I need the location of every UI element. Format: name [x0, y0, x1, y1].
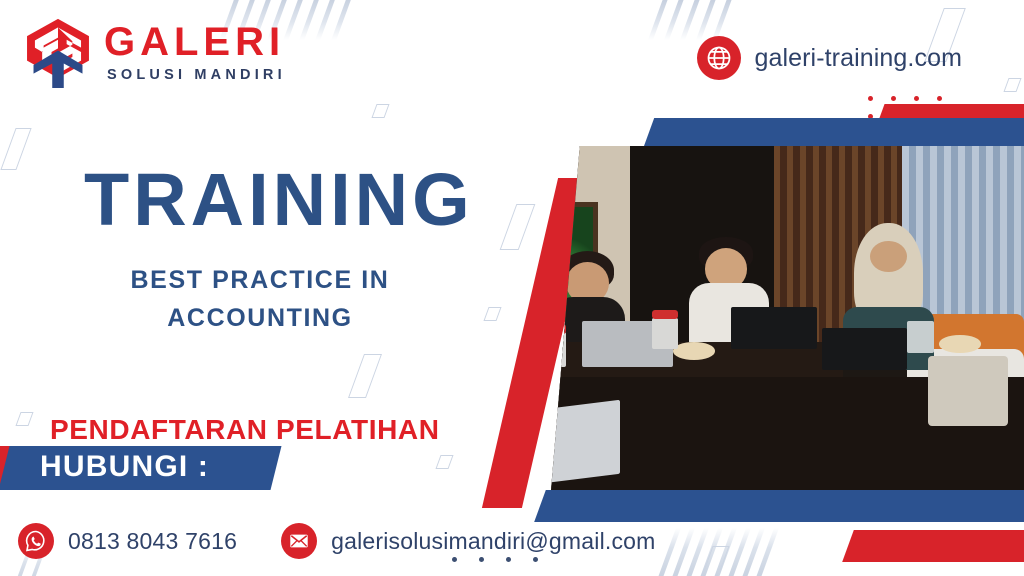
- decorative-stripes-bottom-center: [672, 528, 796, 576]
- decorative-shape: [348, 354, 382, 398]
- page-title: TRAINING: [84, 163, 474, 237]
- decorative-shape: [500, 204, 536, 250]
- decorative-stripes-top-right: [660, 0, 756, 40]
- decorative-dots-under-email: [452, 557, 538, 562]
- decorative-shape: [483, 307, 501, 321]
- email-address[interactable]: galerisolusimandiri@gmail.com: [331, 528, 655, 555]
- contact-banner-label: HUBUNGI :: [40, 450, 209, 484]
- phone-number[interactable]: 0813 8043 7616: [68, 528, 237, 555]
- decorative-shape: [1003, 78, 1021, 92]
- brand-logo[interactable]: GALERI SOLUSI MANDIRI: [22, 16, 286, 88]
- registration-label: PENDAFTARAN PELATIHAN: [50, 414, 440, 446]
- brand-tagline: SOLUSI MANDIRI: [104, 68, 286, 83]
- page-subtitle: BEST PRACTICE IN ACCOUNTING: [84, 262, 436, 337]
- decorative-shape: [435, 455, 453, 469]
- gs-hexagon-monogram-icon: [22, 16, 94, 88]
- whatsapp-icon[interactable]: [18, 523, 54, 559]
- decorative-shape: [699, 546, 729, 576]
- accent-bar-red-bottom: [842, 530, 1024, 562]
- accent-bar-navy-bottom: [534, 490, 1024, 522]
- website-url-text: galeri-training.com: [754, 44, 962, 73]
- contact-details: 0813 8043 7616 galerisolusimandiri@gmail…: [18, 523, 656, 559]
- promotional-banner: GALERI SOLUSI MANDIRI galeri-training.co…: [0, 0, 1024, 576]
- decorative-shape: [15, 412, 33, 426]
- globe-icon: [697, 36, 741, 80]
- decorative-shape: [0, 128, 31, 170]
- brand-name: GALERI: [104, 22, 286, 62]
- envelope-icon[interactable]: [281, 523, 317, 559]
- decorative-shape: [371, 104, 389, 118]
- website-link[interactable]: galeri-training.com: [697, 36, 962, 80]
